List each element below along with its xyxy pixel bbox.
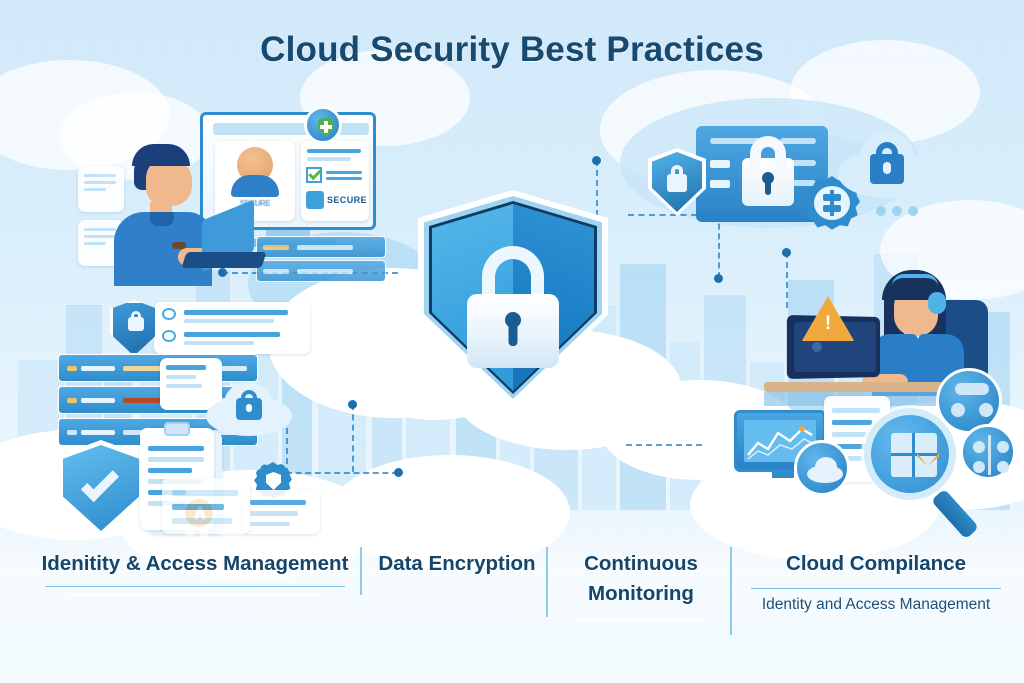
continuous-monitoring-scene: ! [770, 258, 1024, 538]
padlock-icon [467, 246, 559, 368]
footer-sublabel-compliance: Identity and Access Management [742, 596, 1010, 614]
shield-plus-badge-icon [304, 106, 342, 144]
warning-triangle-icon: ! [802, 296, 854, 344]
central-security-shield [418, 190, 608, 405]
infographic-poster: Cloud Security Best Practices SECURE [0, 0, 1024, 683]
cloud-status-icon [794, 440, 850, 496]
server-racks-compliance-scene [58, 292, 326, 542]
headset-icon [928, 292, 946, 314]
footer-label-monitoring: Continuous Monitoring [556, 549, 726, 608]
footer-label-compliance: Cloud Compilance [742, 549, 1010, 579]
server-padlock-icon [736, 132, 800, 214]
network-nodes-icon [960, 424, 1016, 480]
shield-lock-small-icon [110, 300, 158, 356]
cloud-encryption-scene [640, 118, 930, 243]
page-title: Cloud Security Best Practices [0, 30, 1024, 70]
identity-access-management-scene: SECURE SECURE [78, 96, 368, 286]
footer-label-identity: Idenitity & Access Management [30, 549, 360, 579]
secure-badge-label: SECURE [327, 195, 367, 205]
footer-column-compliance: Cloud Compilance Identity and Access Man… [742, 549, 1010, 614]
cloud-lock-icon [206, 380, 292, 442]
footer-label-encryption: Data Encryption [372, 549, 542, 579]
footer-column-identity: Idenitity & Access Management [30, 549, 360, 597]
footer-column-monitoring: Continuous Monitoring [556, 549, 726, 622]
person-man-with-laptop [106, 144, 256, 286]
shield-check-icon [58, 440, 144, 536]
footer-labels: Idenitity & Access Management Data Encry… [0, 533, 1024, 643]
footer-column-encryption: Data Encryption [372, 549, 542, 579]
cloud-lock-right-icon [838, 130, 934, 206]
magnifying-glass-analytics-icon [864, 408, 956, 500]
